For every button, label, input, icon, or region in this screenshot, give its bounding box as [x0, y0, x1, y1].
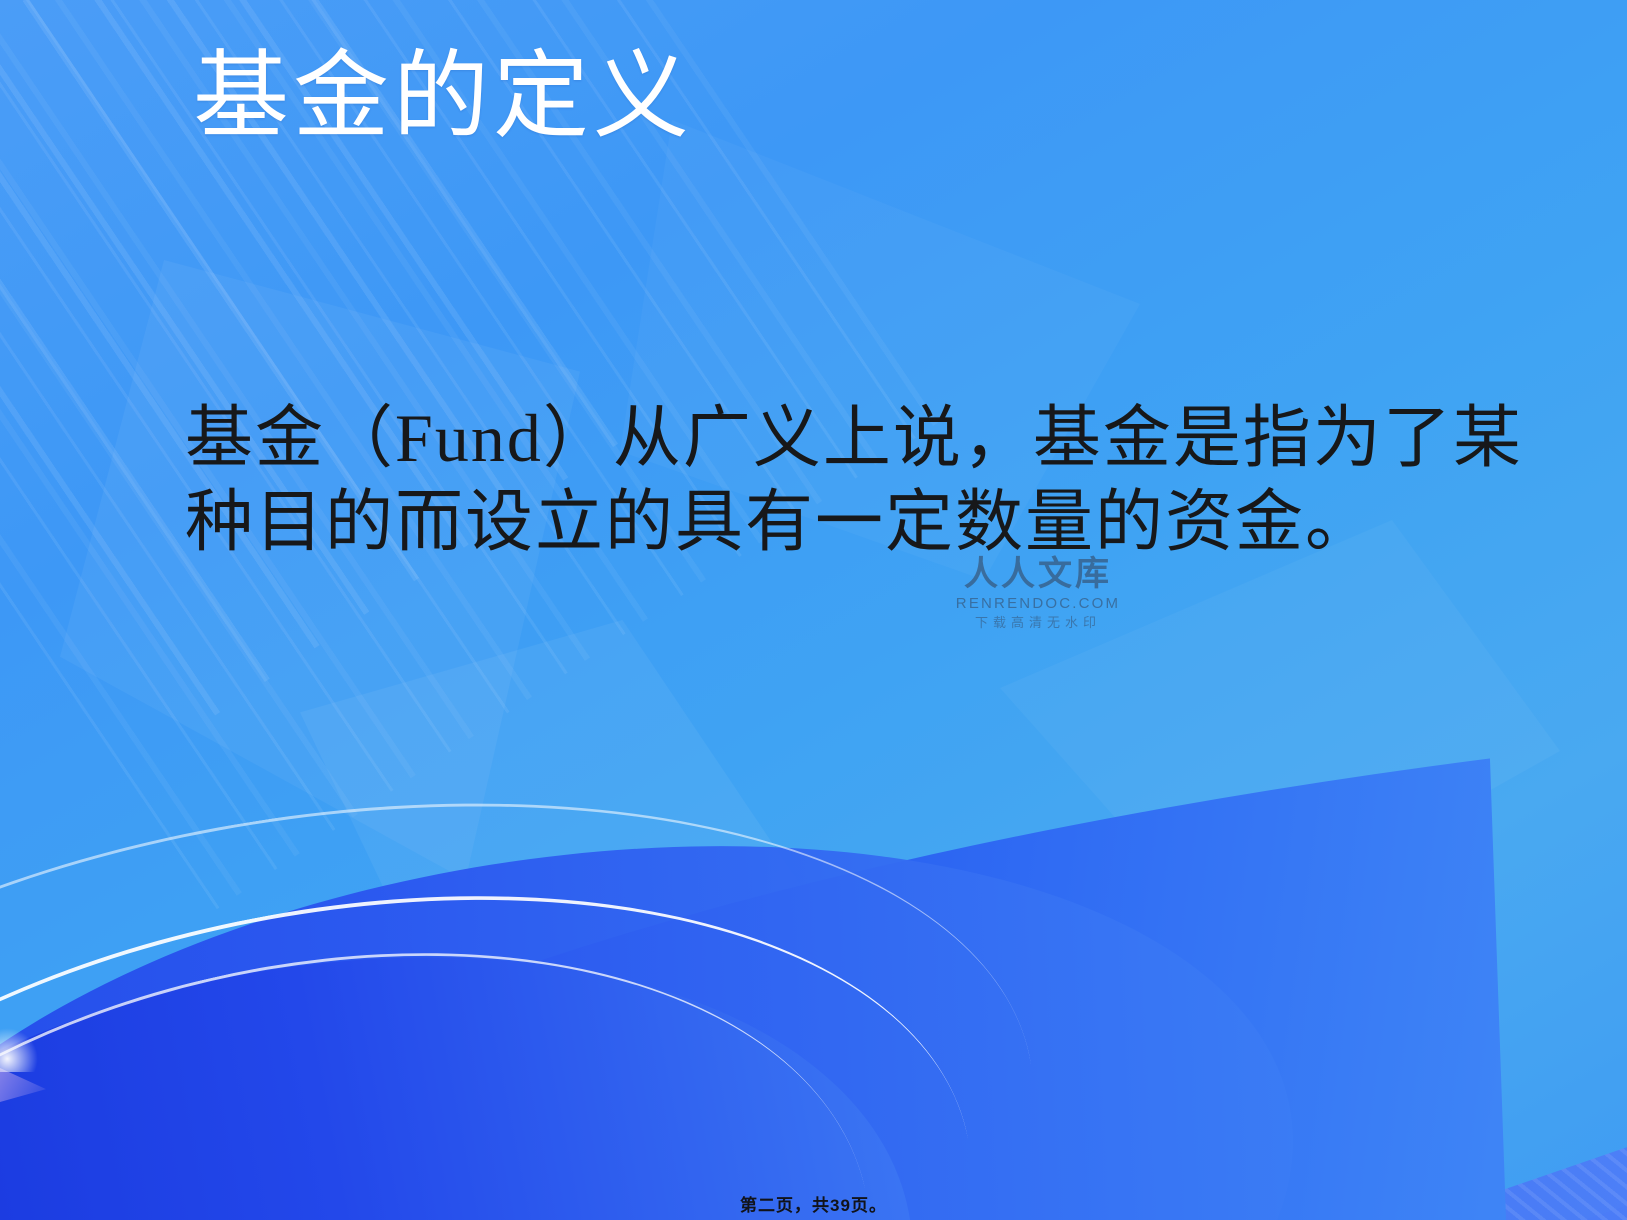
light-facet-d [1000, 520, 1560, 940]
bottom-swoosh-inner [0, 858, 977, 1220]
watermark-subtitle: 下载高清无水印 [938, 614, 1138, 632]
swoosh-curve-line-main [0, 793, 1035, 1220]
presentation-slide: 基金的定义 基金（Fund）从广义上说，基金是指为了某 种目的而设立的具有一定数… [0, 0, 1627, 1220]
swoosh-curve-line-inner [0, 845, 944, 1220]
swoosh-tip-glow [0, 1028, 38, 1072]
watermark-brand-en: RENRENDOC.COM [938, 594, 1138, 614]
swoosh-tip-violet-accent [0, 1068, 46, 1102]
bottom-swoosh-middle [0, 747, 1349, 1220]
slide-body-text: 基金（Fund）从广义上说，基金是指为了某 种目的而设立的具有一定数量的资金。 [185, 396, 1485, 564]
light-facet-a [60, 260, 580, 880]
slide-background-decoration [0, 0, 1627, 1220]
page-number-footer: 第二页，共39页。 [0, 1191, 1627, 1216]
light-facet-b [300, 620, 820, 1040]
swoosh-curve-line-outer [0, 707, 1088, 1220]
slide-title: 基金的定义 [193, 42, 693, 152]
bottom-swoosh-outer [0, 723, 1510, 1220]
body-text-line-2: 种目的而设立的具有一定数量的资金。 [185, 480, 1485, 564]
watermark: 人人文库 RENRENDOC.COM 下载高清无水印 [938, 556, 1138, 632]
body-text-line-1: 基金（Fund）从广义上说，基金是指为了某 [185, 396, 1485, 480]
